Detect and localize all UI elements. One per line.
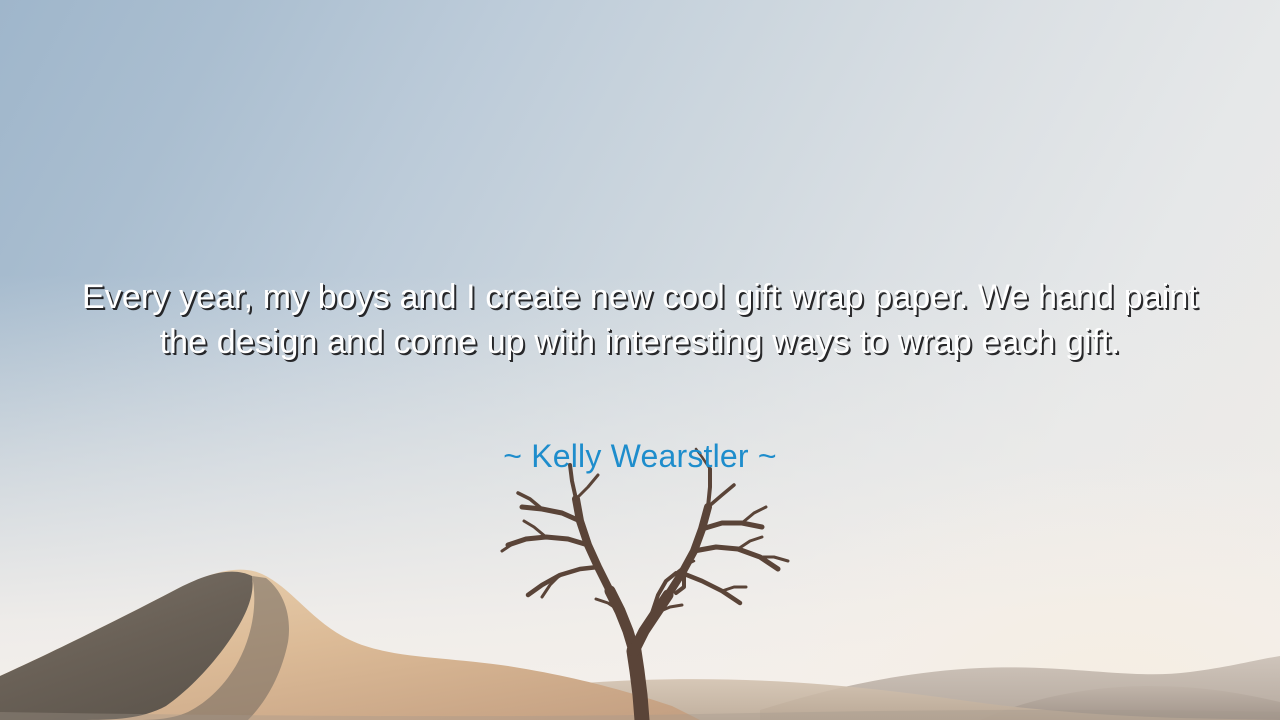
quote-block: Every year, my boys and I create new coo…: [0, 275, 1280, 365]
quote-text: Every year, my boys and I create new coo…: [66, 275, 1214, 365]
quote-attribution: ~ Kelly Wearstler ~: [0, 436, 1280, 476]
quote-image-canvas: Every year, my boys and I create new coo…: [0, 0, 1280, 720]
dead-tree-silhouette: [430, 445, 850, 720]
